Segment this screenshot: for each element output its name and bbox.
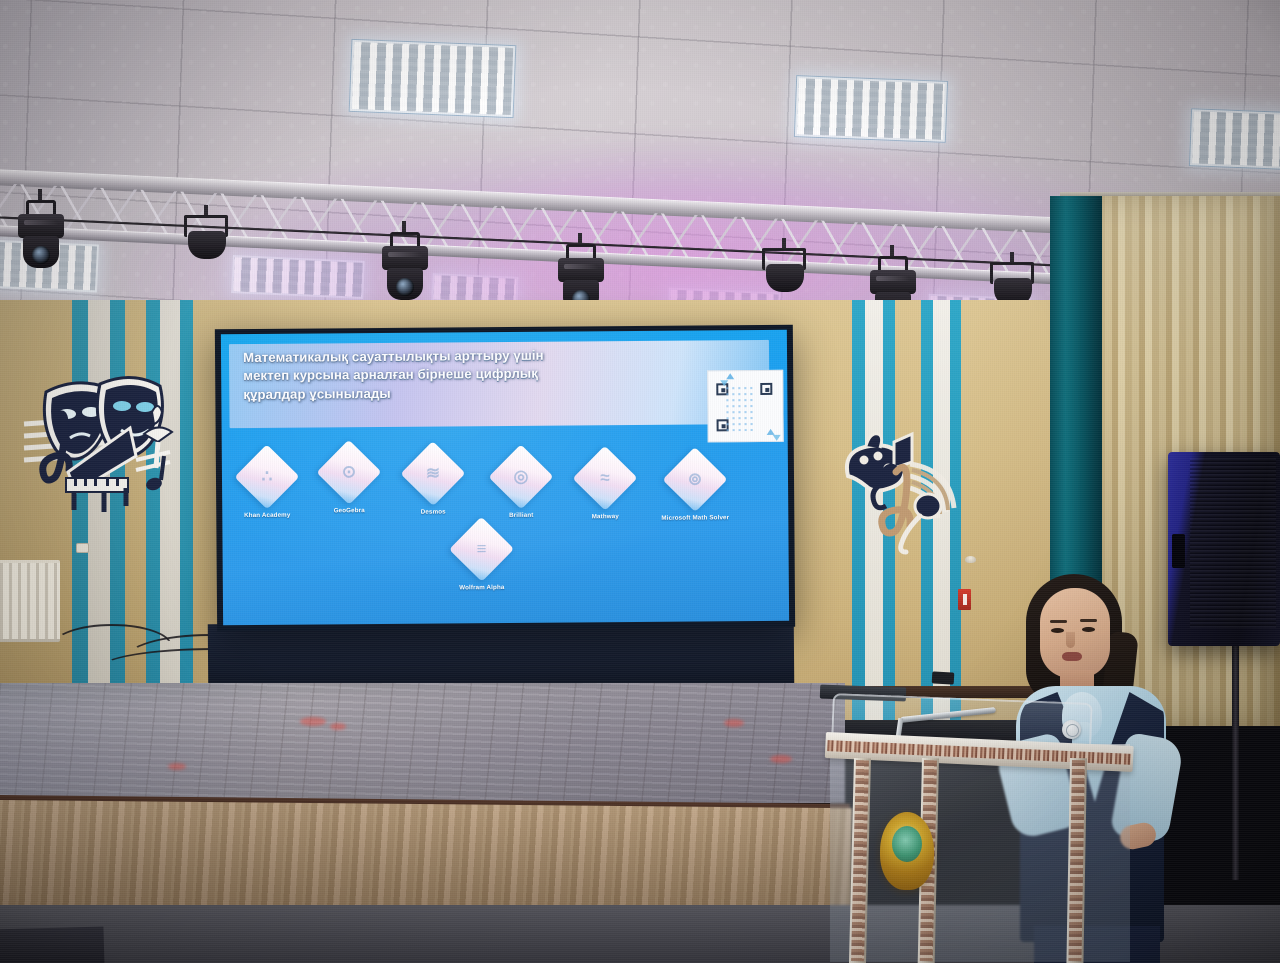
app-label: Khan Academy (236, 512, 298, 519)
app-glyph: ⊙ (326, 449, 372, 495)
podium-post (1066, 758, 1087, 963)
app-item[interactable]: ≋ Desmos (402, 450, 465, 515)
app-glyph: ≈ (582, 455, 628, 501)
fire-alarm-call-point[interactable] (958, 589, 971, 610)
auditorium-scene: Математикалық сауаттылықты арттыру үшін … (0, 0, 1280, 963)
app-diamond-icon: ⊚ (662, 447, 727, 512)
app-label: Microsoft Math Solver (650, 514, 740, 522)
app-label: Wolfram Alpha (451, 584, 513, 591)
wall-art-theatre-music-icon (18, 352, 208, 542)
speaker-stand (1232, 640, 1239, 880)
app-label: Brilliant (490, 512, 552, 519)
app-item[interactable]: ≈ Mathway (574, 455, 637, 520)
laser-spot (168, 763, 186, 770)
app-item[interactable]: ≡ Wolfram Alpha (450, 526, 513, 591)
qr-code[interactable] (707, 370, 784, 443)
app-icon-grid: ∴ Khan Academy ⊙ GeoGebra ≋ Desmos ◎ Bri… (222, 450, 789, 614)
wall-art-palette-music-icon (838, 424, 978, 564)
app-diamond-icon: ◎ (488, 444, 553, 509)
app-diamond-icon: ≋ (400, 441, 465, 506)
stage-floor (0, 683, 845, 803)
podium (826, 708, 1134, 963)
phone[interactable] (932, 671, 955, 684)
app-label: Desmos (402, 508, 464, 515)
app-diamond-icon: ≈ (572, 446, 637, 511)
smoke-detector-icon (965, 556, 976, 563)
app-item[interactable]: ⊙ GeoGebra (318, 449, 381, 514)
laser-spot (300, 717, 326, 726)
app-glyph: ∴ (244, 454, 290, 500)
app-diamond-icon: ⊙ (316, 440, 381, 505)
slide-title-line: құралдар ұсынылады (243, 382, 713, 404)
app-glyph: ≋ (410, 450, 456, 496)
ceiling-light-fixture (349, 39, 517, 118)
app-label: Mathway (574, 513, 636, 520)
led-screen[interactable]: Математикалық сауаттылықты арттыру үшін … (215, 325, 795, 632)
ceiling-light-fixture (1189, 108, 1280, 170)
app-item[interactable]: ∴ Khan Academy (236, 454, 299, 519)
app-item[interactable]: ◎ Brilliant (490, 454, 553, 519)
radiator (0, 560, 60, 642)
presentation-slide: Математикалық сауаттылықты арттыру үшін … (221, 330, 789, 625)
app-glyph: ⊚ (672, 456, 718, 502)
national-emblem (880, 812, 934, 890)
app-glyph: ◎ (498, 454, 544, 500)
ceiling-light-fixture (794, 75, 948, 143)
face (1040, 588, 1110, 678)
app-diamond-icon: ≡ (449, 517, 514, 582)
laser-spot (770, 755, 792, 763)
app-diamond-icon: ∴ (234, 444, 299, 509)
wall-outlet (76, 543, 89, 553)
app-label: GeoGebra (318, 507, 380, 514)
laser-spot (724, 719, 744, 727)
slide-title-banner: Математикалық сауаттылықты арттыру үшін … (229, 340, 770, 428)
laser-spot (330, 723, 346, 730)
pa-speaker (1168, 452, 1280, 646)
slide-title: Математикалық сауаттылықты арттыру үшін … (243, 345, 713, 404)
app-item[interactable]: ⊚ Microsoft Math Solver (650, 456, 741, 522)
foreground-table (0, 927, 105, 963)
app-glyph: ≡ (458, 526, 504, 572)
